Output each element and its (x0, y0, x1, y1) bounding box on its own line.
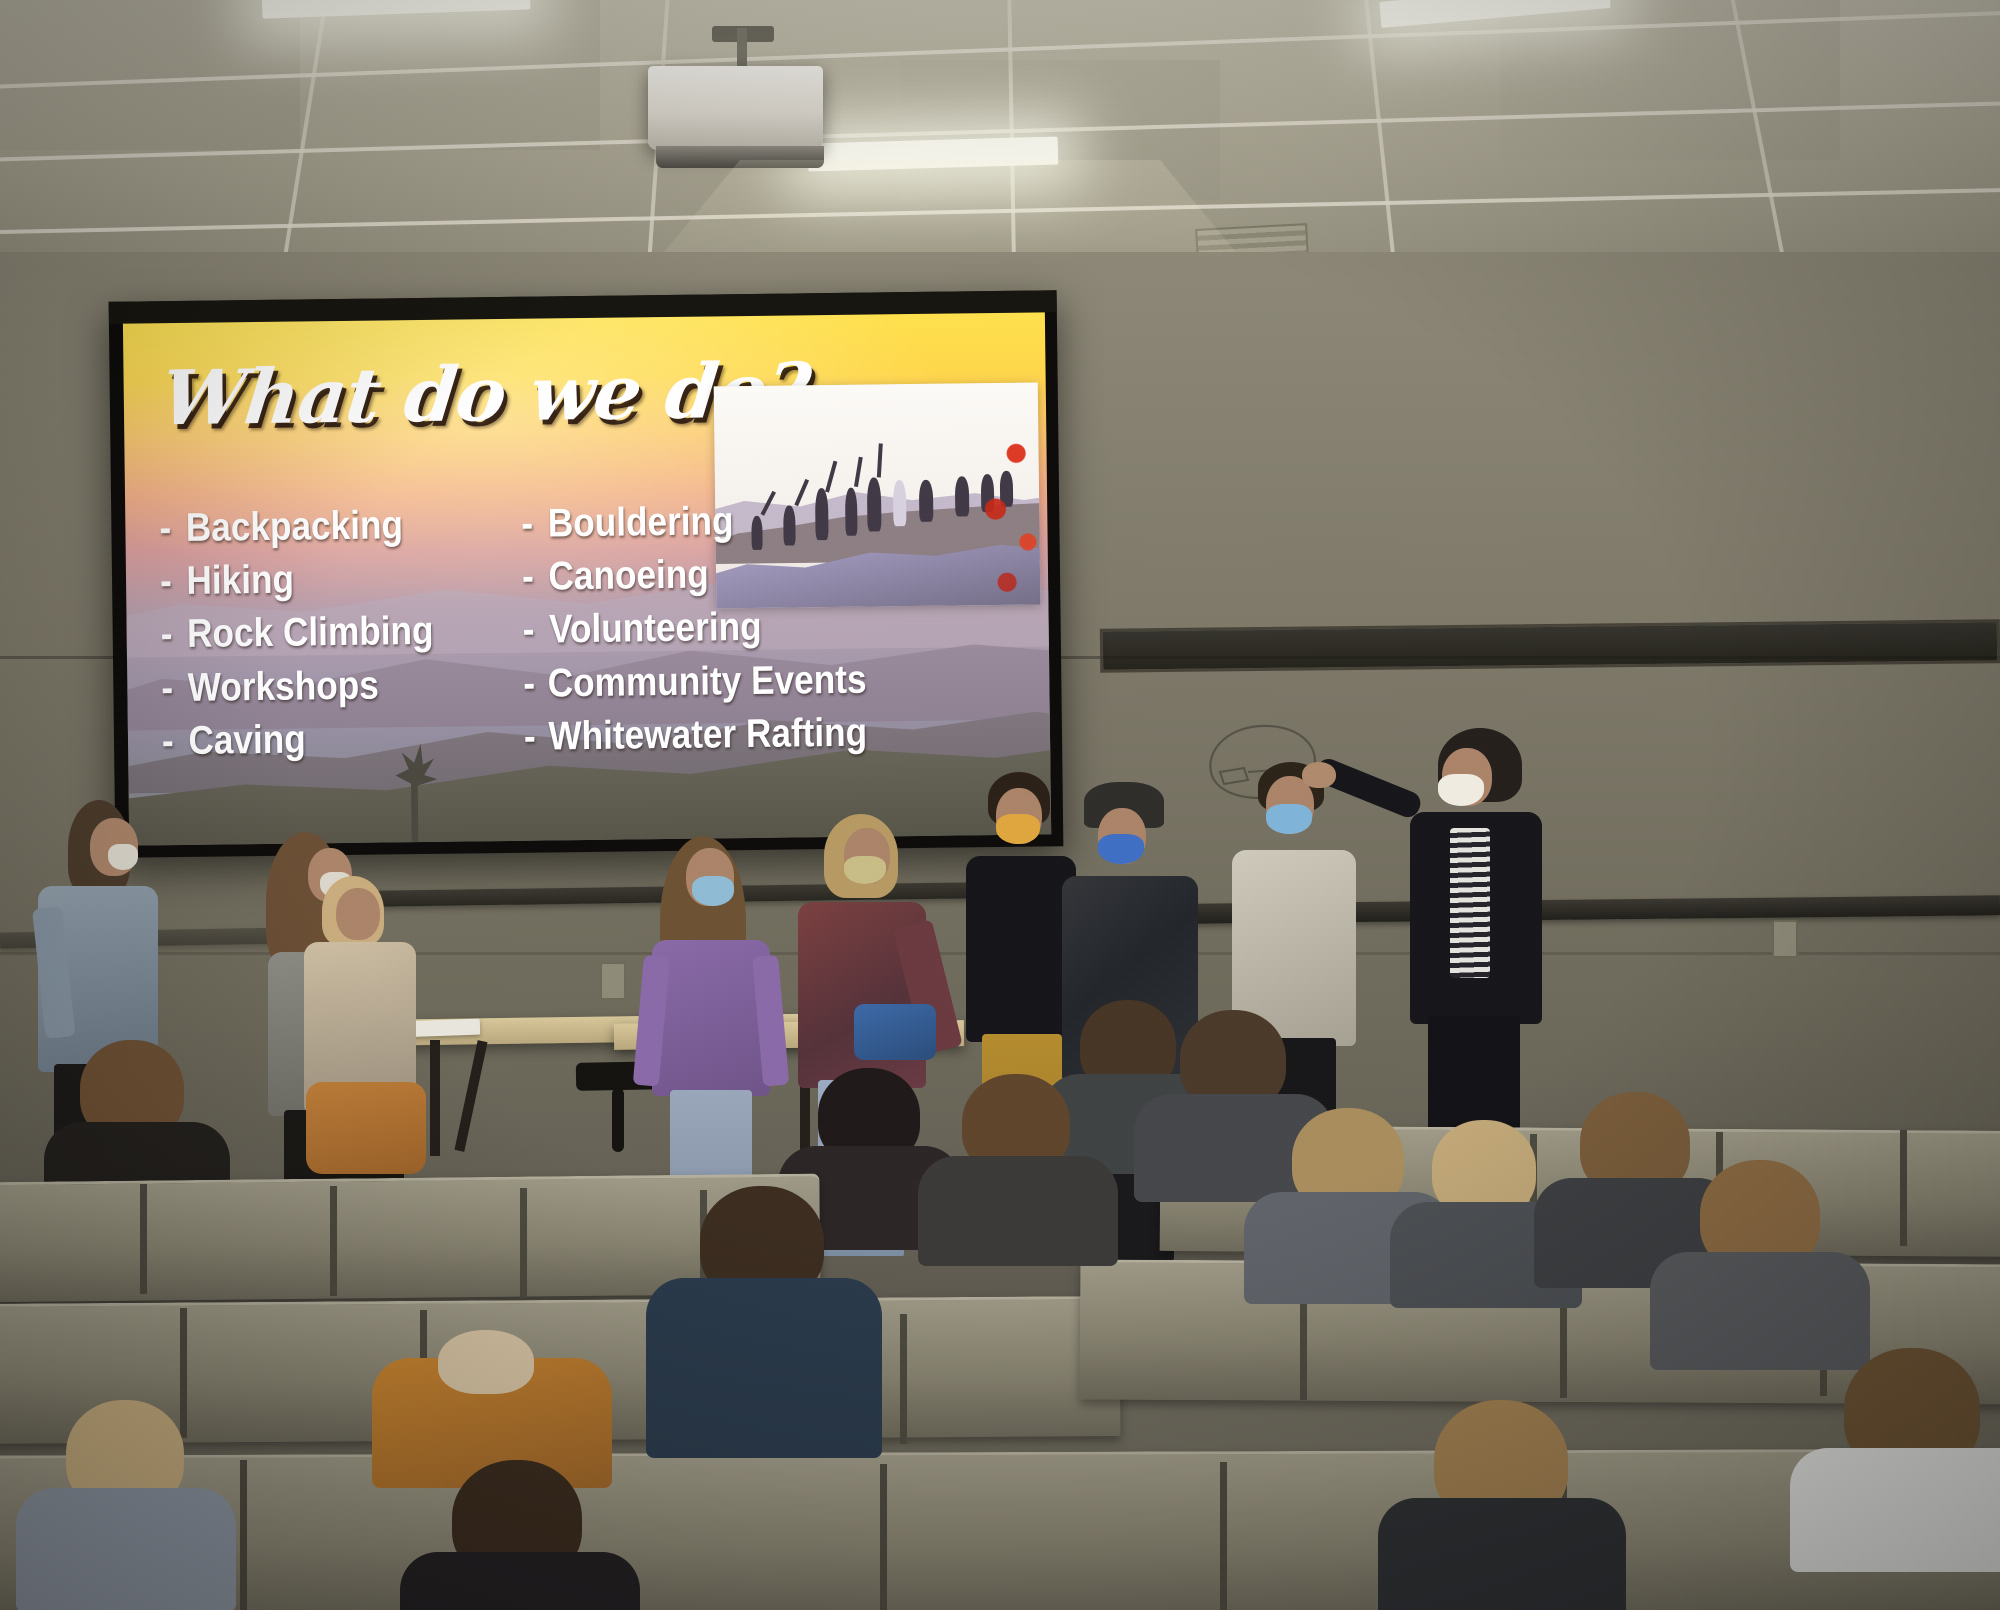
seat-row (0, 1448, 2000, 1610)
list-item: - Workshops (161, 659, 443, 714)
list-item: - Bouldering (521, 495, 865, 550)
list-item: - Caving (162, 713, 444, 768)
audience-shoulders (646, 1278, 882, 1458)
audience-head (438, 1330, 534, 1394)
face-mask (1266, 804, 1312, 834)
list-item-label: Workshops (187, 660, 379, 714)
bandana-bag (854, 1004, 936, 1060)
bullet-dash: - (521, 499, 537, 550)
wall-outlet (600, 962, 626, 1000)
list-item: - Volunteering (522, 601, 866, 656)
bullet-dash: - (162, 716, 178, 767)
audience-shoulders (1378, 1498, 1626, 1610)
bullet-dash: - (159, 503, 175, 554)
audience-shoulders (400, 1552, 640, 1610)
slide-column-left: - Backpacking - Hiking - Rock Climbing -… (159, 499, 482, 767)
bullet-dash: - (523, 658, 537, 709)
audience-shoulders (16, 1488, 236, 1610)
list-item: - Whitewater Rafting (524, 707, 868, 762)
bullet-dash: - (522, 605, 538, 656)
bullet-dash: - (522, 552, 538, 603)
bullet-dash: - (160, 556, 176, 607)
backpack (306, 1082, 426, 1174)
list-item-label: Whitewater Rafting (548, 707, 867, 762)
projector-mount-rod (737, 28, 747, 70)
list-item: - Backpacking (159, 500, 441, 555)
list-item: - Community Events (523, 654, 867, 709)
chair (612, 1088, 624, 1152)
list-item-label: Volunteering (549, 602, 762, 656)
wall-outlet (1772, 920, 1798, 958)
slide: What do we do? (123, 312, 1051, 845)
slide-bullet-lists: - Backpacking - Hiking - Rock Climbing -… (159, 493, 1026, 767)
bullet-dash: - (524, 711, 538, 762)
projection-screen: What do we do? (109, 290, 1064, 858)
list-item-label: Community Events (547, 654, 866, 709)
raised-hand (1302, 762, 1336, 788)
face-mask (692, 876, 734, 906)
audience-shoulders (1790, 1448, 2000, 1572)
list-item-label: Rock Climbing (187, 606, 434, 660)
projector (648, 66, 823, 150)
list-item-label: Canoeing (548, 550, 709, 603)
bullet-dash: - (161, 663, 177, 714)
chalkboard (1100, 619, 2000, 672)
lecture-hall-scene: What do we do? (0, 0, 2000, 1610)
face-mask (996, 814, 1040, 844)
list-item-label: Caving (188, 714, 306, 767)
face-mask (1098, 834, 1144, 864)
list-item: - Hiking (160, 553, 442, 608)
list-item-label: Bouldering (547, 496, 733, 549)
bullet-dash: - (160, 609, 176, 660)
list-item: - Rock Climbing (160, 606, 442, 661)
face-mask (1438, 774, 1484, 806)
list-item-label: Hiking (186, 555, 294, 607)
face-mask (844, 856, 886, 884)
audience-shoulders (1650, 1252, 1870, 1370)
audience-shoulders (918, 1156, 1118, 1266)
projector-lens (656, 146, 824, 168)
list-item: - Canoeing (522, 548, 866, 603)
slide-column-right: - Bouldering - Canoeing - Volunteering -… (521, 494, 914, 763)
list-item-label: Backpacking (186, 500, 404, 554)
striped-shirt (1450, 828, 1490, 978)
